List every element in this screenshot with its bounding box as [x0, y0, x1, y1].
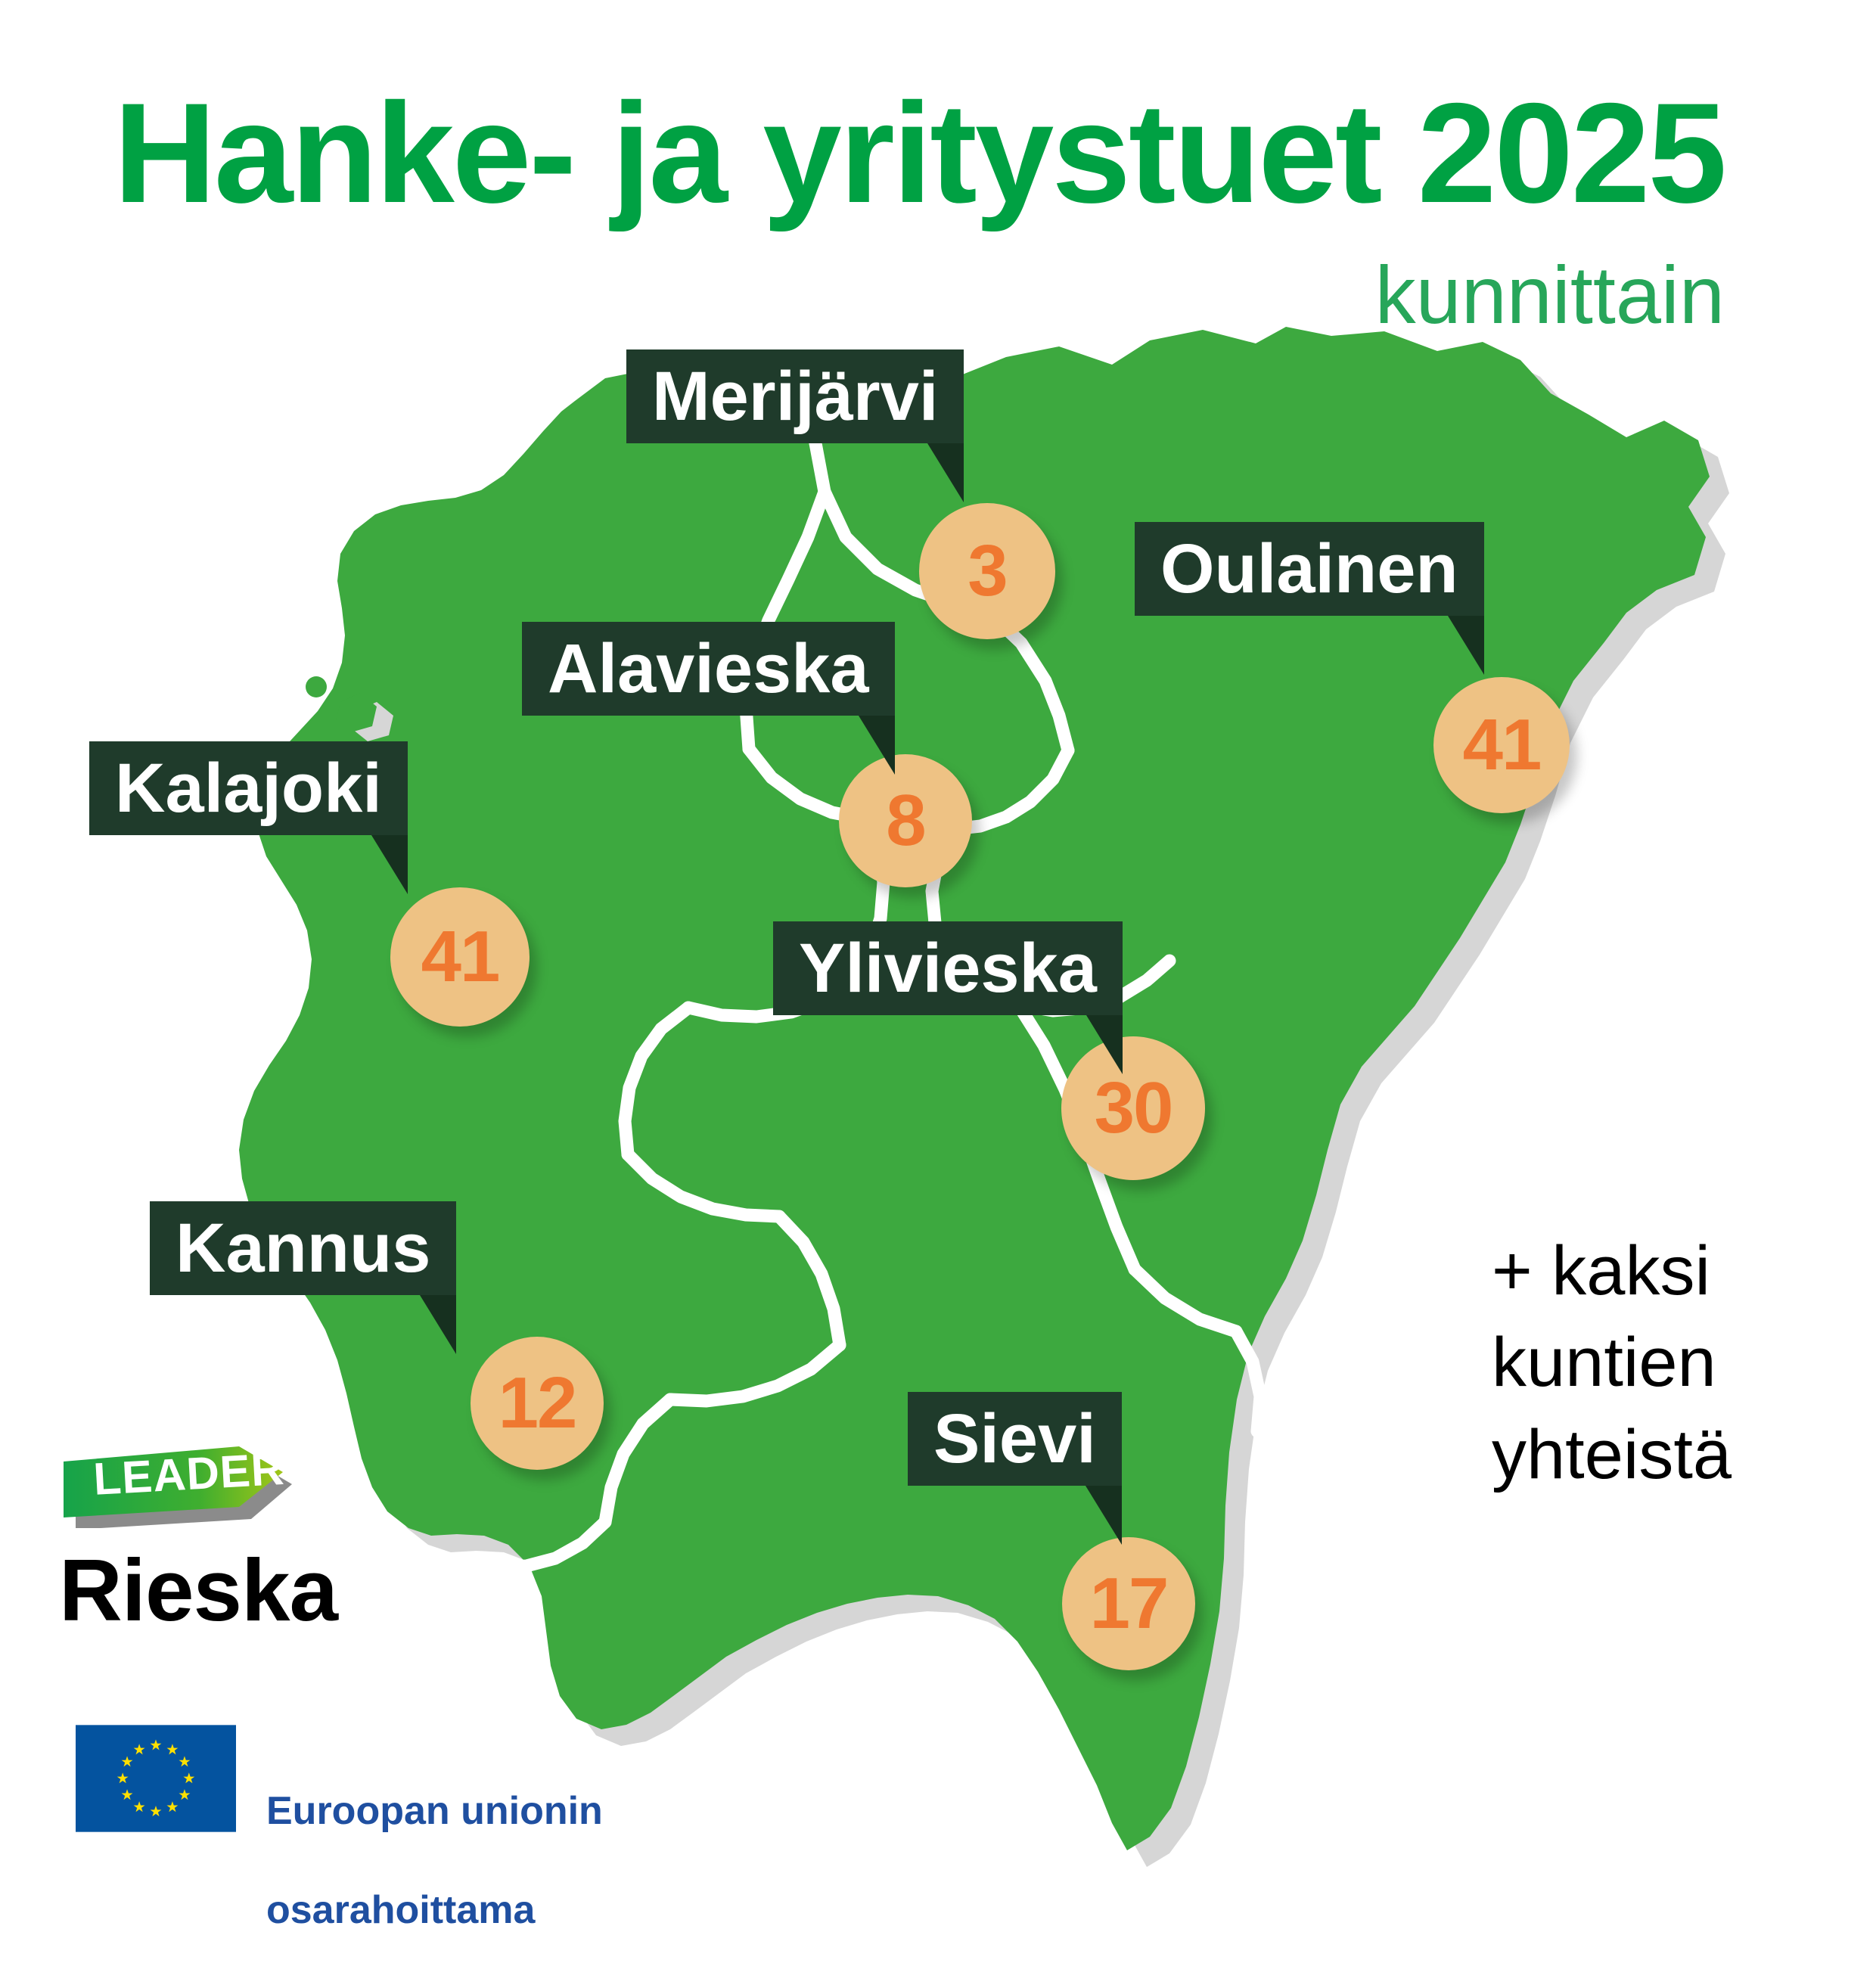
eu-text-line-1: Euroopan unionin	[266, 1787, 603, 1837]
label-tail	[371, 835, 408, 894]
extra-note-line-1: + kaksi	[1492, 1225, 1794, 1317]
map-label-text: Alavieska	[548, 634, 869, 704]
extra-note: + kaksi kuntien yhteistä	[1492, 1225, 1794, 1501]
count-value: 17	[1090, 1567, 1168, 1640]
map-label-kalajoki[interactable]: Kalajoki	[89, 741, 408, 835]
map-label-alavieska[interactable]: Alavieska	[522, 622, 895, 716]
count-value: 41	[1463, 709, 1541, 781]
eu-funding-text: Euroopan unionin osarahoittama	[266, 1725, 603, 1985]
count-marker-ylivieska[interactable]: 30	[1061, 1036, 1205, 1180]
label-tail	[1086, 1486, 1122, 1545]
count-marker-kannus[interactable]: 12	[471, 1337, 604, 1470]
map-label-text: Kalajoki	[115, 753, 382, 823]
leader-banner: LEADER	[59, 1437, 331, 1521]
count-value: 12	[499, 1367, 576, 1440]
count-value: 41	[421, 921, 499, 993]
label-tail	[1086, 1015, 1123, 1074]
map-label-text: Kannus	[175, 1213, 430, 1283]
label-tail	[1448, 616, 1484, 675]
leader-logo: LEADER Rieska	[59, 1437, 384, 1634]
page-title: Hanke- ja yritystuet 2025	[0, 82, 1725, 224]
count-marker-sievi[interactable]: 17	[1062, 1537, 1195, 1670]
map-label-sievi[interactable]: Sievi	[908, 1392, 1122, 1486]
map-label-text: Ylivieska	[799, 933, 1097, 1003]
eu-flag-icon	[76, 1725, 236, 1832]
count-marker-kalajoki[interactable]: 41	[390, 887, 530, 1027]
map-label-oulainen[interactable]: Oulainen	[1135, 522, 1484, 616]
label-tail	[859, 716, 895, 775]
count-marker-oulainen[interactable]: 41	[1433, 677, 1570, 813]
count-marker-merijarvi[interactable]: 3	[919, 503, 1055, 639]
count-value: 8	[886, 784, 924, 857]
count-value: 30	[1095, 1072, 1172, 1145]
map-label-text: Merijärvi	[652, 362, 938, 431]
map-label-text: Sievi	[933, 1404, 1096, 1474]
map-label-ylivieska[interactable]: Ylivieska	[773, 921, 1123, 1015]
label-tail	[927, 443, 964, 502]
count-value: 3	[968, 535, 1006, 607]
label-tail	[420, 1295, 456, 1354]
extra-note-line-2: kuntien	[1492, 1317, 1794, 1409]
leader-wordmark: LEADER	[92, 1446, 286, 1502]
map-label-kannus[interactable]: Kannus	[150, 1201, 456, 1295]
eu-funding-badge: Euroopan unionin osarahoittama	[76, 1725, 603, 1985]
map-label-text: Oulainen	[1160, 534, 1458, 604]
leader-group-name: Rieska	[59, 1546, 384, 1634]
extra-note-line-3: yhteistä	[1492, 1409, 1794, 1501]
map-label-merijarvi[interactable]: Merijärvi	[626, 349, 964, 443]
eu-text-line-2: osarahoittama	[266, 1886, 603, 1936]
